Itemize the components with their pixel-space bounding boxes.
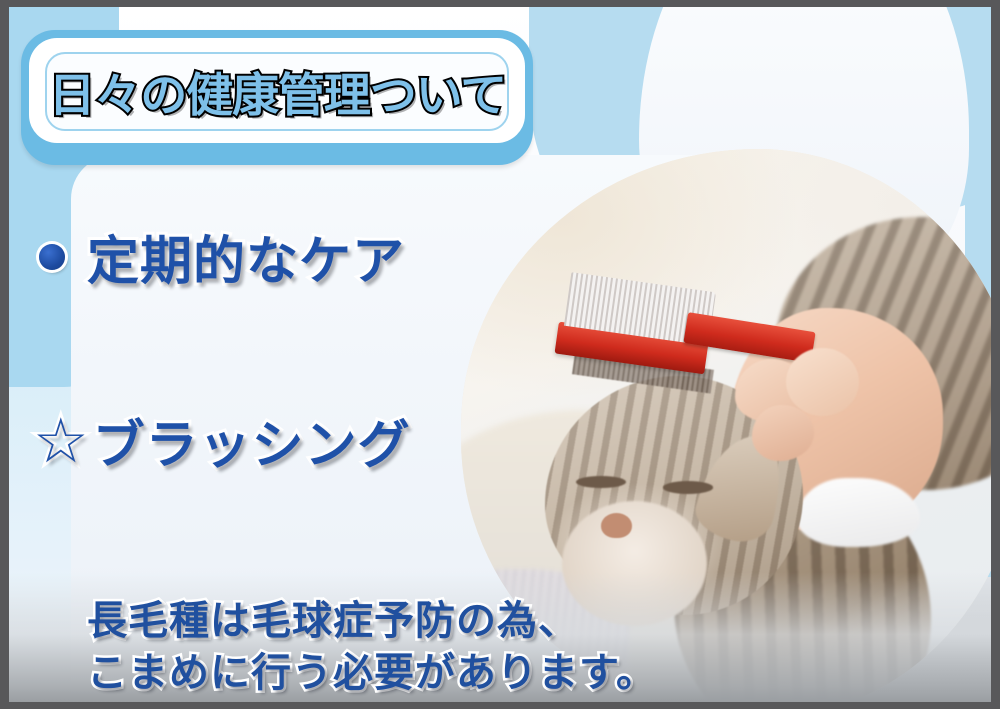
bullet-item-brushing: ☆ ブラッシング [33, 403, 411, 478]
bullet-label-brushing: ブラッシング [93, 403, 411, 478]
star-icon: ☆ [33, 410, 89, 472]
title-box-white: 日々の健康管理ついて [29, 38, 525, 143]
slide-canvas: 日々の健康管理ついて 定期的なケア ☆ ブラッシング 長毛種は毛球症予防の為、 … [9, 7, 991, 702]
hand-finger-2 [786, 348, 859, 416]
caption-line-2: こまめに行う必要があります。 [87, 647, 657, 699]
cat-eye-right [663, 481, 713, 493]
bullet-item-regular-care: 定期的なケア [39, 219, 405, 294]
cat-eye-left [576, 476, 626, 488]
caption-block: 長毛種は毛球症予防の為、 こまめに行う必要があります。 [87, 595, 657, 699]
title-box-inner: 日々の健康管理ついて [45, 52, 509, 131]
caption-line-1: 長毛種は毛球症予防の為、 [87, 595, 657, 647]
cat-nose [601, 513, 632, 539]
bullet-dot-icon [39, 244, 65, 270]
slide-frame: 日々の健康管理ついて 定期的なケア ☆ ブラッシング 長毛種は毛球症予防の為、 … [0, 0, 1000, 709]
page-title: 日々の健康管理ついて [48, 59, 506, 125]
bullet-label-regular-care: 定期的なケア [87, 219, 405, 294]
title-box: 日々の健康管理ついて [21, 30, 533, 165]
